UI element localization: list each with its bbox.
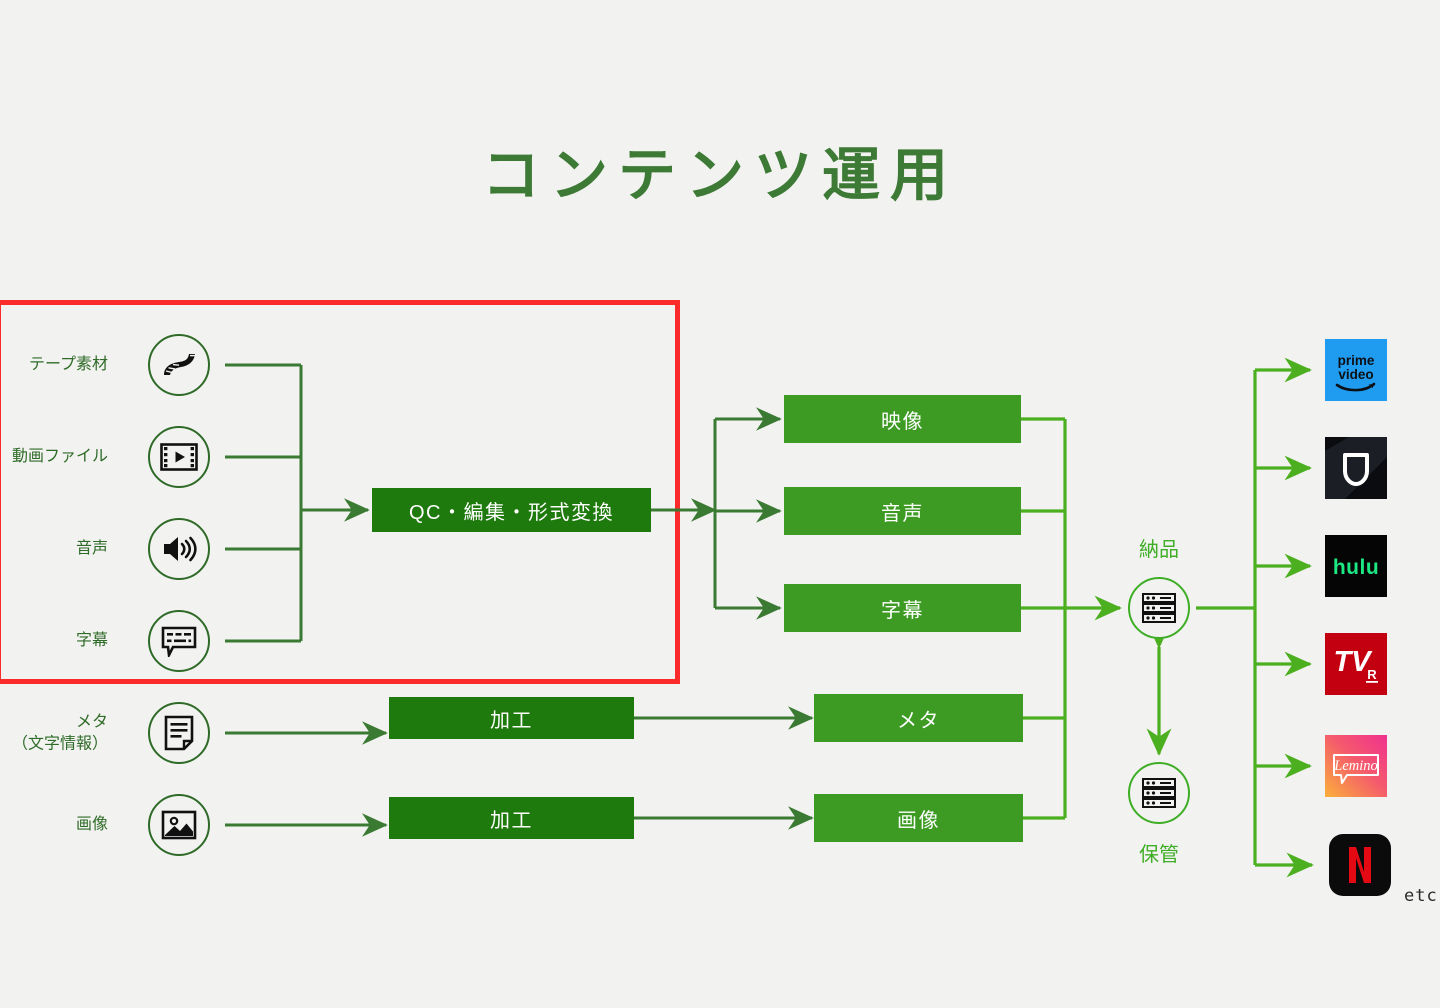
platform-logo-prime-video[interactable]: prime video — [1325, 339, 1387, 401]
svg-text:hulu: hulu — [1333, 556, 1379, 579]
image-icon — [148, 794, 210, 856]
source-label-image: 画像 — [0, 814, 108, 836]
delivery-label: 納品 — [1079, 533, 1239, 562]
output-box-image[interactable]: 画像 — [814, 794, 1023, 842]
svg-text:prime: prime — [1338, 353, 1375, 368]
platform-logo-u-next[interactable] — [1325, 437, 1387, 499]
source-label-audio: 音声 — [0, 538, 108, 560]
output-box-subtitle[interactable]: 字幕 — [784, 584, 1021, 632]
source-label-meta-line1: メタ — [0, 711, 108, 733]
output-box-audio[interactable]: 音声 — [784, 487, 1021, 535]
subtitle-icon — [148, 610, 210, 672]
film-tape-icon — [148, 334, 210, 396]
server-stack-icon-archive — [1128, 762, 1190, 824]
slide-canvas: コンテンツ運用 — [0, 0, 1440, 1008]
source-label-video: 動画ファイル — [0, 446, 108, 468]
document-icon — [148, 702, 210, 764]
speaker-icon — [148, 518, 210, 580]
svg-text:R: R — [1367, 667, 1377, 682]
platform-logo-lemino[interactable]: Lemino — [1325, 735, 1387, 797]
page-title: コンテンツ運用 — [0, 128, 1440, 212]
svg-text:Lemino: Lemino — [1333, 758, 1378, 774]
server-stack-icon-delivery — [1128, 577, 1190, 639]
svg-text:video: video — [1338, 367, 1373, 382]
source-label-tape: テープ素材 — [0, 354, 108, 376]
process-box-qc[interactable]: QC・編集・形式変換 — [372, 488, 651, 532]
process-box-meta[interactable]: 加工 — [389, 697, 634, 739]
source-label-meta: メタ （文字情報） — [0, 711, 108, 754]
source-label-meta-line2: （文字情報） — [0, 733, 108, 755]
archive-label: 保管 — [1079, 838, 1239, 867]
process-box-image[interactable]: 加工 — [389, 797, 634, 839]
output-box-meta[interactable]: メタ — [814, 694, 1023, 742]
video-file-icon — [148, 426, 210, 488]
platform-logo-tver[interactable]: TV R — [1325, 633, 1387, 695]
source-label-subtitle: 字幕 — [0, 630, 108, 652]
etc-label: etc. — [1404, 886, 1440, 906]
output-box-video[interactable]: 映像 — [784, 395, 1021, 443]
platform-logo-netflix[interactable] — [1329, 834, 1391, 896]
platform-logo-hulu[interactable]: hulu — [1325, 535, 1387, 597]
